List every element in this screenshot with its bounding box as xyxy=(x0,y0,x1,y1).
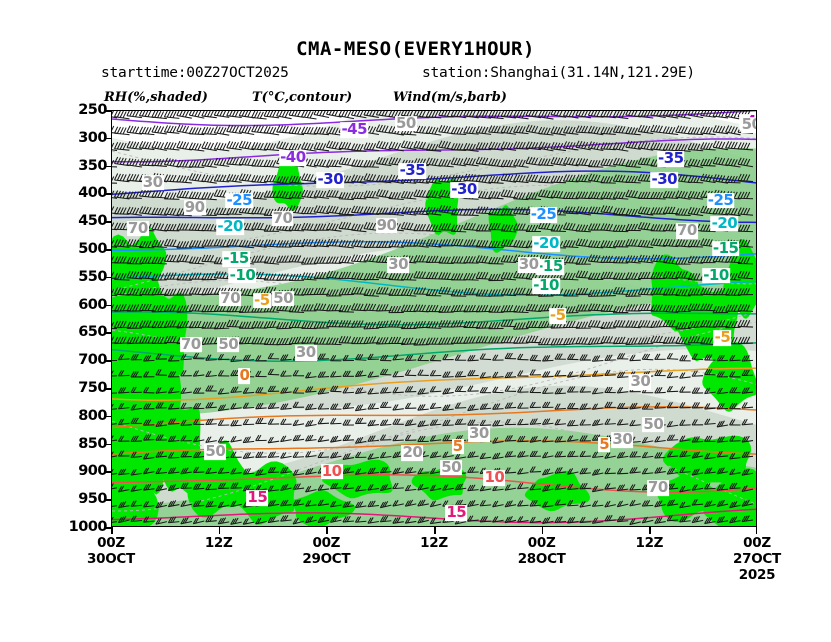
temperature-contour-label: 5 xyxy=(598,437,610,453)
y-axis-tick-mark xyxy=(104,138,111,140)
legend-rh-label: RH(%,shaded) xyxy=(104,90,208,105)
y-axis-tick-label: 700 xyxy=(78,353,107,368)
rh-contour-label: 30 xyxy=(142,175,164,191)
x-axis-tick-label: 12Z xyxy=(205,535,233,551)
x-axis-tick-label: 12Z xyxy=(635,535,663,551)
y-axis-tick-label: 350 xyxy=(78,158,107,173)
temperature-contour-label: -30 xyxy=(450,182,478,198)
rh-contour-label: 30 xyxy=(629,374,651,390)
y-axis-tick-mark xyxy=(104,416,111,418)
y-axis-tick-mark xyxy=(104,305,111,307)
temperature-contour-label: -45 xyxy=(340,122,368,138)
temperature-contour-label: -15 xyxy=(222,251,250,267)
temperature-contour-label: -25 xyxy=(530,207,558,223)
temperature-contour-label: -35 xyxy=(657,151,685,167)
y-axis-tick-label: 600 xyxy=(78,297,107,312)
temperature-contour-label: -10 xyxy=(702,268,730,284)
x-axis-tick-mark xyxy=(542,527,544,534)
temperature-contour-label: 15 xyxy=(246,490,268,506)
y-axis-tick-label: 1000 xyxy=(69,520,107,535)
legend-temperature-label: T(°C,contour) xyxy=(252,90,352,105)
x-axis-tick-mark xyxy=(649,527,651,534)
temperature-contour-label: -25 xyxy=(707,193,735,209)
rh-contour-label: 30 xyxy=(387,257,409,273)
y-axis-tick-mark xyxy=(104,388,111,390)
temperature-contour-label: -15 xyxy=(712,241,740,257)
temperature-contour-label: -5 xyxy=(549,308,567,324)
rh-contour-label: 90 xyxy=(376,218,398,234)
y-axis-tick-label: 450 xyxy=(78,214,107,229)
rh-contour-label: 50 xyxy=(741,117,757,133)
temperature-contour-label: -15 xyxy=(536,260,564,276)
y-axis-tick-mark xyxy=(104,110,111,112)
x-axis-tick-mark xyxy=(219,527,221,534)
temperature-contour-label: -5 xyxy=(714,330,732,346)
sounding-cross-section-plot: -45-40-4-35-35-30-30-30-25-25-25-20-20-2… xyxy=(111,110,757,527)
y-axis-tick-mark xyxy=(104,471,111,473)
rh-contour-label: 30 xyxy=(468,426,490,442)
plot-inner: -45-40-4-35-35-30-30-30-25-25-25-20-20-2… xyxy=(112,111,756,526)
rh-contour-label: 30 xyxy=(611,433,633,449)
temperature-contour-label: -20 xyxy=(711,216,739,232)
temperature-contour-label: -30 xyxy=(651,172,679,188)
y-axis-tick-label: 800 xyxy=(78,409,107,424)
temperature-contour-label: -10 xyxy=(532,278,560,294)
rh-contour-label: 50 xyxy=(642,417,664,433)
x-axis-tick-label: 00Z29OCT xyxy=(302,535,350,567)
y-axis-tick-label: 650 xyxy=(78,325,107,340)
x-axis-tick-label: 00Z27OCT2025 xyxy=(733,535,781,583)
rh-contour-label: 70 xyxy=(127,221,149,237)
y-axis-tick-mark xyxy=(104,527,111,529)
y-axis-tick-label: 400 xyxy=(78,186,107,201)
rh-contour-label: 70 xyxy=(180,337,202,353)
legend-wind-label: Wind(m/s,barb) xyxy=(393,90,507,105)
temperature-contour-label: -25 xyxy=(225,193,253,209)
x-axis: 00Z30OCT12Z00Z29OCT12Z00Z28OCT12Z00Z27OC… xyxy=(111,527,757,597)
rh-contour-label: 50 xyxy=(217,337,239,353)
temperature-contour-label: 15 xyxy=(445,506,467,522)
y-axis-tick-label: 850 xyxy=(78,436,107,451)
x-axis-tick-mark xyxy=(434,527,436,534)
rh-contour-label: 70 xyxy=(676,223,698,239)
x-axis-tick-label: 12Z xyxy=(420,535,448,551)
rh-contour-label: 70 xyxy=(647,481,669,497)
temperature-contour-label: -20 xyxy=(216,219,244,235)
rh-contour-label: 30 xyxy=(295,345,317,361)
temperature-contour-label: 5 xyxy=(452,439,464,455)
y-axis-tick-mark xyxy=(104,221,111,223)
y-axis-tick-mark xyxy=(104,332,111,334)
temperature-contour-label: -20 xyxy=(532,237,560,253)
y-axis-tick-label: 250 xyxy=(78,103,107,118)
station-label: station:Shanghai(31.14N,121.29E) xyxy=(422,65,695,81)
temperature-contour-label: 10 xyxy=(321,464,343,480)
temperature-contour-label: -40 xyxy=(279,150,307,166)
y-axis-tick-label: 300 xyxy=(78,131,107,146)
y-axis-tick-mark xyxy=(104,360,111,362)
y-axis-tick-label: 750 xyxy=(78,381,107,396)
rh-contour-label: 50 xyxy=(272,291,294,307)
y-axis-tick-mark xyxy=(104,249,111,251)
y-axis-tick-mark xyxy=(104,499,111,501)
temperature-contour-label: -10 xyxy=(229,268,257,284)
y-axis-tick-mark xyxy=(104,444,111,446)
x-axis-tick-label: 00Z30OCT xyxy=(87,535,135,567)
y-axis-tick-label: 500 xyxy=(78,242,107,257)
y-axis: 2503003504004505005506006507007508008509… xyxy=(55,110,107,527)
x-axis-tick-mark xyxy=(111,527,113,534)
rh-contour-label: 20 xyxy=(401,445,423,461)
x-axis-tick-mark xyxy=(326,527,328,534)
y-axis-tick-mark xyxy=(104,277,111,279)
temperature-contour-label: 10 xyxy=(483,470,505,486)
temperature-contour-label: -30 xyxy=(317,172,345,188)
y-axis-tick-mark xyxy=(104,166,111,168)
rh-contour-label: 50 xyxy=(204,444,226,460)
y-axis-tick-label: 950 xyxy=(78,492,107,507)
y-axis-tick-label: 900 xyxy=(78,464,107,479)
x-axis-tick-label: 00Z28OCT xyxy=(518,535,566,567)
temperature-contour-label: -35 xyxy=(399,164,427,180)
rh-contour-label: 90 xyxy=(184,200,206,216)
starttime-label: starttime:00Z27OCT2025 xyxy=(101,65,289,81)
temperature-contour-label: 0 xyxy=(238,368,250,384)
rh-contour-label: 70 xyxy=(219,291,241,307)
rh-contour-label: 50 xyxy=(440,460,462,476)
y-axis-tick-label: 550 xyxy=(78,270,107,285)
x-axis-tick-mark xyxy=(756,527,758,534)
rh-contour-label: 30 xyxy=(518,257,540,273)
y-axis-tick-mark xyxy=(104,193,111,195)
rh-contour-label: 50 xyxy=(395,116,417,132)
temperature-contour-label: -5 xyxy=(253,293,271,309)
page-title: CMA-MESO(EVERY1HOUR) xyxy=(0,38,831,60)
rh-contour-label: 70 xyxy=(272,211,294,227)
